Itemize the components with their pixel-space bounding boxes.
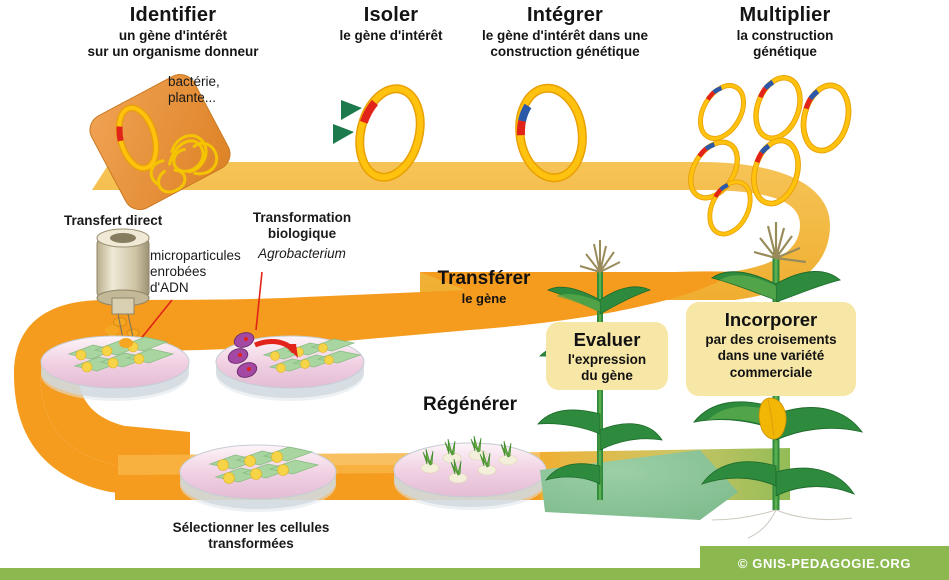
heading-multiplier-sub: la construction génétique [690, 28, 880, 60]
petri-dish-agrobacterium-icon [216, 330, 364, 401]
credit-text: © GNIS-PEDAGOGIE.ORG [738, 556, 911, 571]
maize-cob-icon [759, 398, 786, 439]
heading-isoler: Isoler le gène d'intérêt [306, 4, 476, 44]
heading-integrer-sub: le gène d'intérêt dans une construction … [460, 28, 670, 60]
diagram-canvas: Identifier un gène d'intérêt sur un orga… [0, 0, 949, 580]
petri-dish-selection-icon [180, 445, 336, 512]
callout-incorporer-title: Incorporer [694, 309, 848, 332]
heading-identifier-title: Identifier [66, 4, 280, 28]
heading-identifier-sub: un gène d'intérêt sur un organisme donne… [66, 28, 280, 60]
step-transferer-sub: le gène [404, 291, 564, 307]
label-select-cells: Sélectionner les cellules transformées [140, 520, 362, 552]
callout-evaluer-sub: l'expression du gène [554, 352, 660, 385]
step-regenerer: Régénérer [390, 394, 550, 417]
callout-evaluer: Evaluer l'expression du gène [546, 322, 668, 390]
label-agrobacterium: Agrobacterium [232, 246, 372, 262]
callout-incorporer: Incorporer par des croisements dans une … [686, 302, 856, 396]
heading-isoler-sub: le gène d'intérêt [306, 28, 476, 44]
label-donor-examples: bactérie, plante... [168, 74, 220, 106]
label-transfert-direct: Transfert direct [64, 213, 162, 229]
petri-dish-regeneration-icon [394, 436, 546, 510]
step-transferer: Transférer le gène [404, 268, 564, 306]
heading-multiplier: Multiplier la construction génétique [690, 4, 880, 59]
label-microparticles: microparticules enrobées d'ADN [150, 248, 241, 297]
step-transferer-title: Transférer [404, 268, 564, 291]
heading-identifier: Identifier un gène d'intérêt sur un orga… [66, 4, 280, 59]
step-regenerer-title: Régénérer [390, 394, 550, 417]
heading-multiplier-title: Multiplier [690, 4, 880, 28]
heading-integrer: Intégrer le gène d'intérêt dans une cons… [460, 4, 670, 59]
callout-evaluer-title: Evaluer [554, 329, 660, 352]
heading-isoler-title: Isoler [306, 4, 476, 28]
heading-integrer-title: Intégrer [460, 4, 670, 28]
label-transformation-biologique: Transformation biologique [232, 210, 372, 242]
credit-badge: © GNIS-PEDAGOGIE.ORG [700, 546, 949, 580]
callout-incorporer-sub: par des croisements dans une variété com… [694, 332, 848, 381]
